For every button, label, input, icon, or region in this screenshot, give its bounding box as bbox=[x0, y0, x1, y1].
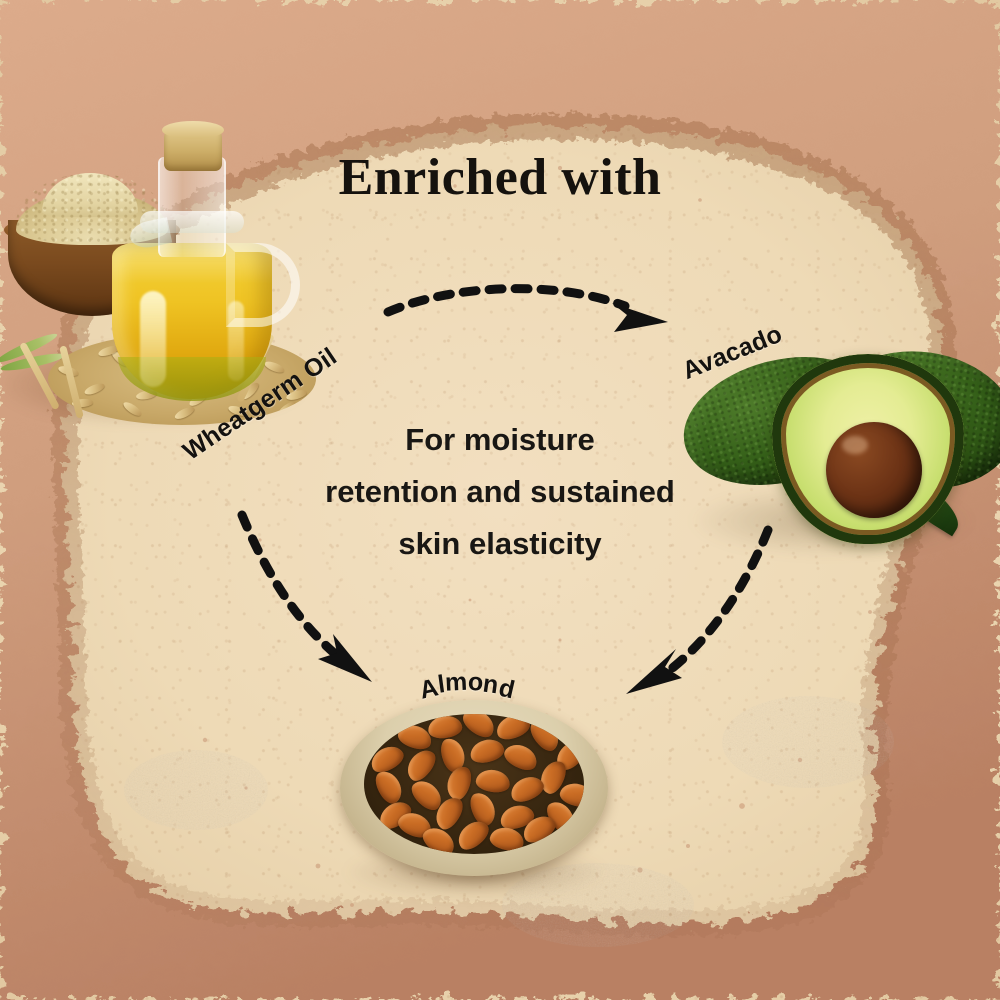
enriched-with-ingredients-infographic: Enriched with For moisture retention and… bbox=[0, 0, 1000, 1000]
avocado-pit bbox=[826, 422, 922, 518]
benefit-line-2: retention and sustained bbox=[300, 466, 700, 518]
almond-label-char: m bbox=[445, 668, 469, 698]
benefit-description: For moisture retention and sustained ski… bbox=[300, 414, 700, 570]
page-title: Enriched with bbox=[0, 148, 1000, 207]
cork-top bbox=[162, 121, 224, 139]
benefit-line-3: skin elasticity bbox=[300, 518, 700, 570]
ingredient-label-almond: Almond bbox=[420, 668, 514, 697]
bottle-handle bbox=[226, 243, 300, 327]
benefit-line-1: For moisture bbox=[300, 414, 700, 466]
almond-bowl-image bbox=[340, 700, 612, 892]
avocado-pit-highlight bbox=[842, 436, 868, 454]
oil-highlight bbox=[140, 291, 166, 387]
bottle-collar bbox=[140, 211, 244, 233]
almond-bowl-interior bbox=[364, 714, 584, 854]
